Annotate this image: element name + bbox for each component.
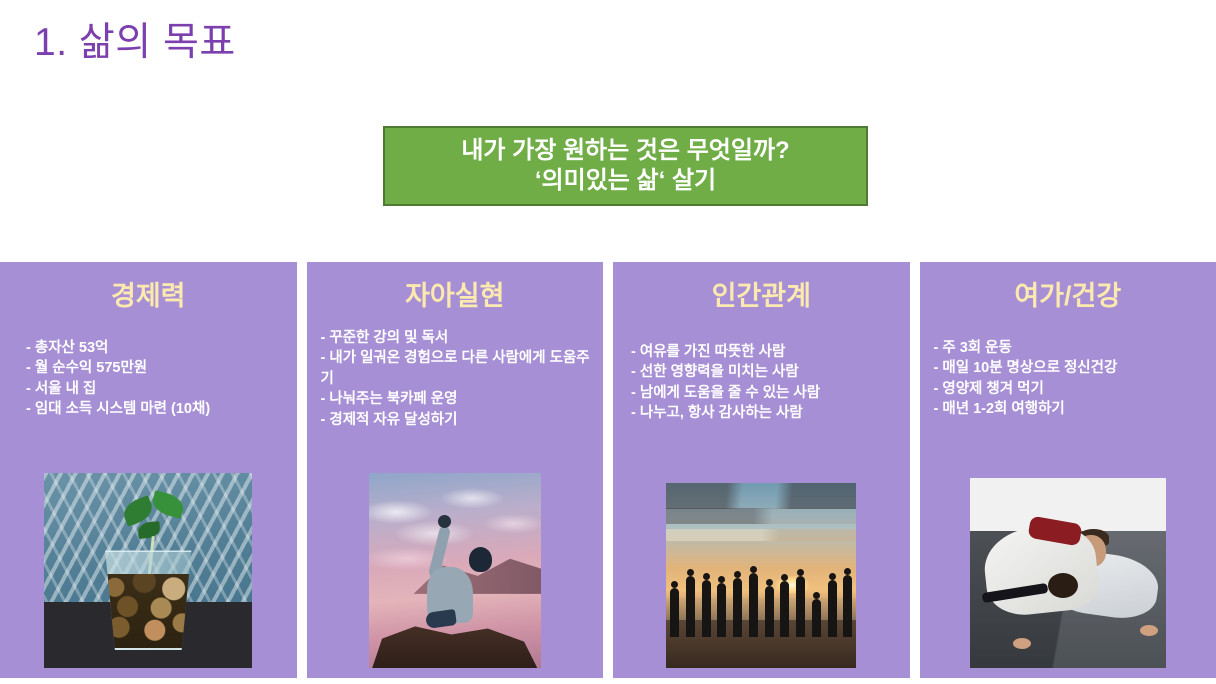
person-silhouette [733, 578, 742, 637]
question-banner-line-1: 내가 가장 원하는 것은 무엇일까? [461, 137, 789, 165]
photo-beach-sunset-group [666, 483, 856, 668]
bullet-item: - 총자산 53억 [26, 338, 287, 359]
coin-pile-shape [99, 574, 197, 649]
bullet-item: - 나누고, 항사 감사하는 사람 [631, 403, 900, 424]
photo-jiujitsu-sparring-image [970, 478, 1166, 668]
bullet-item: - 내가 일궈온 경험으로 다른 사람에게 도움주기 [321, 348, 594, 389]
photo-mountain-peak [369, 473, 541, 668]
photo-jiujitsu-sparring [970, 478, 1166, 668]
question-banner-line-2: ‘의미있는 삶‘ 살기 [535, 167, 716, 195]
bullet-item: - 영양제 챙겨 먹기 [934, 379, 1207, 400]
person-silhouette [702, 580, 711, 637]
person-silhouette [812, 599, 821, 636]
bullet-item: - 남에게 도움을 줄 수 있는 사람 [631, 383, 900, 404]
bullet-item: - 경제적 자유 달성하기 [321, 410, 594, 431]
bullet-item: - 주 3회 운동 [934, 338, 1207, 359]
hand-shape [1140, 625, 1158, 636]
goal-column-leisure-health-bullets: - 주 3회 운동 - 매일 10분 명상으로 정신건강 - 영양제 챙겨 먹기… [920, 338, 1216, 420]
goal-column-self-realization-bullets: - 꾸준한 강의 및 독서 - 내가 일궈온 경험으로 다른 사람에게 도움주기… [307, 328, 604, 431]
hand-shape [1013, 638, 1031, 649]
person-silhouette [765, 586, 774, 636]
bullet-item: - 월 순수익 575만원 [26, 358, 287, 379]
fist-shape [438, 515, 451, 528]
person-silhouette [828, 580, 837, 637]
goal-column-relationships-heading: 인간관계 [712, 282, 811, 312]
bullet-item: - 나눠주는 북카페 운영 [321, 389, 594, 410]
page-title: 1. 삶의 목표 [34, 22, 236, 65]
hood-shape [469, 547, 492, 572]
person-silhouette [717, 583, 726, 637]
photo-beach-sunset-group-image [666, 483, 856, 668]
goal-column-self-realization-heading: 자아실현 [405, 282, 504, 312]
person-silhouette [686, 576, 695, 636]
person-silhouette [780, 581, 789, 636]
person-silhouette [749, 573, 758, 636]
goal-column-leisure-health-heading: 여가/건강 [1014, 282, 1121, 312]
photo-coins-sprout [44, 473, 252, 668]
goal-columns: 경제력 - 총자산 53억 - 월 순수익 575만원 - 서울 내 집 - 임… [0, 262, 1216, 678]
goal-column-relationships: 인간관계 - 여유를 가진 따뜻한 사람 - 선한 영향력을 미치는 사람 - … [613, 262, 910, 678]
goal-column-economy: 경제력 - 총자산 53억 - 월 순수익 575만원 - 서울 내 집 - 임… [0, 262, 297, 678]
bullet-item: - 매일 10분 명상으로 정신건강 [934, 358, 1207, 379]
leaf-icon [137, 521, 160, 539]
person-silhouette [843, 575, 852, 637]
question-banner: 내가 가장 원하는 것은 무엇일까? ‘의미있는 삶‘ 살기 [383, 126, 868, 206]
person-silhouette [796, 576, 805, 636]
bullet-item: - 서울 내 집 [26, 379, 287, 400]
goal-column-economy-heading: 경제력 [111, 282, 186, 312]
photo-mountain-peak-image [369, 473, 541, 668]
photo-coins-sprout-image [44, 473, 252, 668]
bullet-item: - 꾸준한 강의 및 독서 [321, 328, 594, 349]
goal-column-self-realization: 자아실현 - 꾸준한 강의 및 독서 - 내가 일궈온 경험으로 다른 사람에게… [307, 262, 604, 678]
bullet-item: - 여유를 가진 따뜻한 사람 [631, 342, 900, 363]
bullet-item: - 임대 소득 시스템 마련 (10채) [26, 399, 287, 420]
goal-column-leisure-health: 여가/건강 - 주 3회 운동 - 매일 10분 명상으로 정신건강 - 영양제… [920, 262, 1216, 678]
goal-column-economy-bullets: - 총자산 53억 - 월 순수익 575만원 - 서울 내 집 - 임대 소득… [0, 338, 297, 420]
goal-column-relationships-bullets: - 여유를 가진 따뜻한 사람 - 선한 영향력을 미치는 사람 - 남에게 도… [613, 342, 910, 424]
person-silhouette [670, 588, 679, 637]
people-silhouette-group [670, 555, 852, 636]
leaf-icon [150, 490, 187, 519]
glass-jar-shape [99, 550, 197, 650]
bullet-item: - 선한 영향력을 미치는 사람 [631, 362, 900, 383]
bullet-item: - 매년 1-2회 여행하기 [934, 399, 1207, 420]
